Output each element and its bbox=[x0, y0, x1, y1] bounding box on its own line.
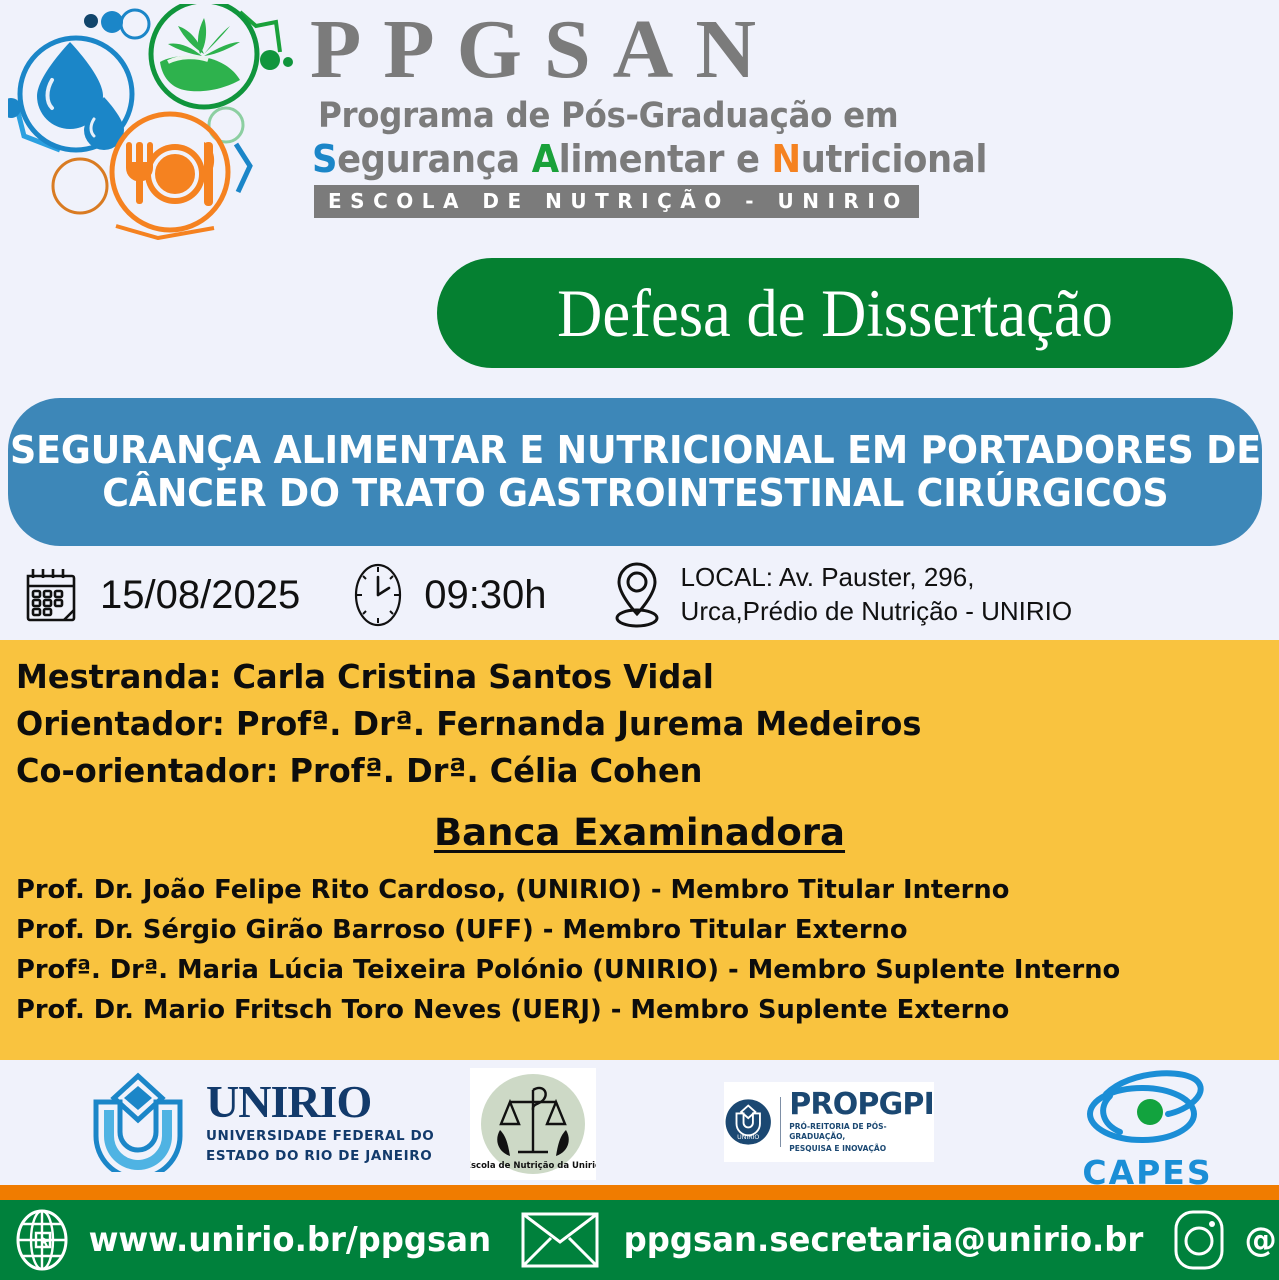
event-type-banner: Defesa de Dissertação bbox=[437, 258, 1233, 368]
contact-footer: www.unirio.br/ppgsan ppgsan.secretaria@u… bbox=[0, 1200, 1279, 1280]
escola-nutricao-logo: Escola de Nutrição da Unirio bbox=[470, 1068, 596, 1180]
brand-letter-n: N bbox=[772, 137, 801, 181]
event-location-line1: LOCAL: Av. Pauster, 296, bbox=[681, 561, 1073, 595]
event-location-line2: Urca,Prédio de Nutrição - UNIRIO bbox=[681, 595, 1073, 629]
event-date-text: 15/08/2025 bbox=[100, 573, 300, 618]
advisor-line: Orientador: Profª. Drª. Fernanda Jurema … bbox=[16, 701, 1241, 748]
committee-heading: Banca Examinadora bbox=[0, 811, 1279, 854]
instagram-group[interactable]: @ppgsan.unirio bbox=[1171, 1208, 1279, 1272]
unirio-word: UNIRIO bbox=[206, 1079, 434, 1125]
brand-subtitle-line2: Segurança Alimentar e Nutricional bbox=[312, 137, 822, 181]
event-time-group: 09:30h bbox=[352, 562, 546, 628]
escola-nutricao-seal-icon: Escola de Nutrição da Unirio bbox=[470, 1068, 596, 1180]
committee-member: Prof. Dr. Mario Fritsch Toro Neves (UERJ… bbox=[16, 990, 1266, 1030]
propgpi-logo: UNIRIO PROPGPI PRÓ-REITORIA DE PÓS-GRADU… bbox=[724, 1082, 934, 1162]
website-group[interactable]: www.unirio.br/ppgsan bbox=[14, 1209, 502, 1271]
ppgsan-logo-mark bbox=[8, 4, 308, 240]
propgpi-badge-label: UNIRIO bbox=[737, 1134, 759, 1141]
student-line: Mestranda: Carla Cristina Santos Vidal bbox=[16, 654, 1241, 701]
event-location-text-block: LOCAL: Av. Pauster, 296, Urca,Prédio de … bbox=[665, 561, 1073, 629]
coadvisor-line: Co-orientador: Profª. Drª. Célia Cohen bbox=[16, 748, 1241, 795]
unirio-sub-line2: ESTADO DO RIO DE JANEIRO bbox=[206, 1148, 434, 1165]
school-bar: ESCOLA DE NUTRIÇÃO - UNIRIO bbox=[314, 185, 919, 218]
dissertation-title-line1: SEGURANÇA ALIMENTAR E NUTRICIONAL EM POR… bbox=[10, 429, 1261, 472]
capes-emblem-icon bbox=[1080, 1066, 1215, 1152]
dissertation-title-banner: SEGURANÇA ALIMENTAR E NUTRICIONAL EM POR… bbox=[8, 398, 1262, 546]
propgpi-sub-line2: PESQUISA E INOVAÇÃO bbox=[789, 1144, 934, 1154]
brand-word-seguranca: egurança bbox=[337, 137, 532, 181]
event-location-group: LOCAL: Av. Pauster, 296, Urca,Prédio de … bbox=[609, 560, 1073, 630]
committee-list: Prof. Dr. João Felipe Rito Cardoso, (UNI… bbox=[0, 870, 1279, 1031]
instagram-icon bbox=[1171, 1208, 1227, 1272]
people-block: Mestranda: Carla Cristina Santos Vidal O… bbox=[0, 640, 1279, 795]
details-panel: Mestranda: Carla Cristina Santos Vidal O… bbox=[0, 640, 1279, 1060]
capes-logo: CAPES bbox=[1080, 1066, 1215, 1192]
brand-letter-s: S bbox=[312, 137, 337, 181]
committee-member: Prof. Dr. Sérgio Girão Barroso (UFF) - M… bbox=[16, 910, 1266, 950]
propgpi-sub-line1: PRÓ-REITORIA DE PÓS-GRADUAÇÃO, bbox=[789, 1122, 934, 1142]
committee-member: Profª. Drª. Maria Lúcia Teixeira Polónio… bbox=[16, 950, 1266, 990]
event-type-label: Defesa de Dissertação bbox=[557, 279, 1113, 347]
clock-icon bbox=[352, 562, 404, 628]
brand-block: PPGSAN Programa de Pós-Graduação em Segu… bbox=[300, 6, 860, 218]
calendar-icon bbox=[22, 564, 82, 626]
instagram-text[interactable]: @ppgsan.unirio bbox=[1244, 1220, 1279, 1260]
event-info-row: 15/08/2025 09:30h LOCAL: Av. Pauster, 29… bbox=[0, 552, 1279, 638]
dissertation-title-line2: CÂNCER DO TRATO GASTROINTESTINAL CIRÚRGI… bbox=[102, 472, 1168, 515]
orange-divider-bar bbox=[0, 1185, 1279, 1200]
unirio-logo: UNIRIO UNIVERSIDADE FEDERAL DO ESTADO DO… bbox=[78, 1072, 434, 1172]
event-date-group: 15/08/2025 bbox=[22, 564, 300, 626]
website-text[interactable]: www.unirio.br/ppgsan bbox=[89, 1220, 491, 1260]
envelope-icon bbox=[520, 1210, 600, 1270]
event-time-text: 09:30h bbox=[424, 573, 546, 618]
location-pin-icon bbox=[609, 560, 665, 630]
email-group[interactable]: ppgsan.secretaria@unirio.br bbox=[520, 1210, 1157, 1270]
brand-word-nutricional: utricional bbox=[801, 137, 987, 181]
propgpi-badge-icon: UNIRIO bbox=[724, 1091, 772, 1153]
propgpi-word: PROPGPI bbox=[789, 1090, 934, 1120]
unirio-sub-line1: UNIVERSIDADE FEDERAL DO bbox=[206, 1128, 434, 1145]
brand-word-alimentar: limentar e bbox=[559, 137, 772, 181]
escola-nutricao-caption: Escola de Nutrição da Unirio bbox=[470, 1161, 596, 1171]
sponsor-logo-strip: UNIRIO UNIVERSIDADE FEDERAL DO ESTADO DO… bbox=[0, 1060, 1279, 1185]
brand-subtitle-line1: Programa de Pós-Graduação em bbox=[318, 96, 822, 136]
ppgsan-emblem-svg bbox=[8, 4, 308, 240]
unirio-wordmark: UNIRIO UNIVERSIDADE FEDERAL DO ESTADO DO… bbox=[206, 1079, 434, 1165]
poster-header: PPGSAN Programa de Pós-Graduação em Segu… bbox=[0, 0, 1279, 250]
propgpi-divider bbox=[780, 1097, 781, 1147]
globe-icon bbox=[14, 1209, 70, 1271]
email-text[interactable]: ppgsan.secretaria@unirio.br bbox=[623, 1220, 1143, 1260]
unirio-emblem-icon bbox=[78, 1072, 198, 1172]
committee-member: Prof. Dr. João Felipe Rito Cardoso, (UNI… bbox=[16, 870, 1266, 910]
brand-acronym: PPGSAN bbox=[310, 6, 860, 94]
poster-root: PPGSAN Programa de Pós-Graduação em Segu… bbox=[0, 0, 1279, 1280]
propgpi-wordmark: PROPGPI PRÓ-REITORIA DE PÓS-GRADUAÇÃO, P… bbox=[789, 1090, 934, 1154]
brand-letter-a: A bbox=[532, 137, 559, 181]
